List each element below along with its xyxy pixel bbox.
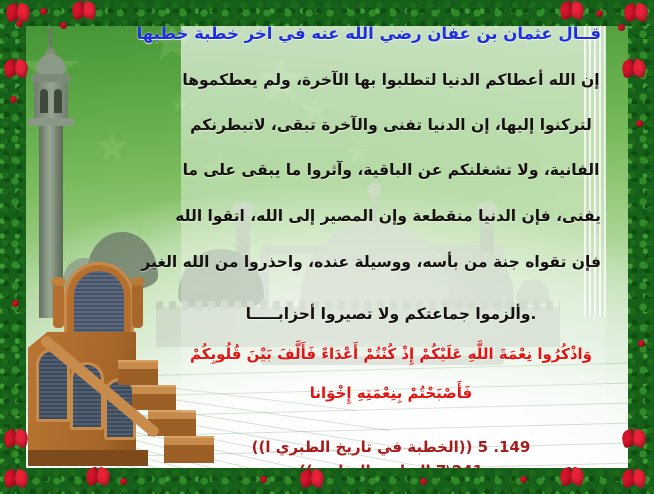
star-shape [95, 130, 129, 164]
citation-ref-1: 5 .149 [478, 438, 531, 456]
body-line-4: يفنى، فإن الدنيا منقطعة وإن المصير إلى ا… [181, 207, 601, 225]
body-line-6: .وألزموا جماعتكم ولا تصيروا أحزابـــــا [181, 305, 601, 323]
citation-text-2: البداية والنهاية. )) [299, 462, 431, 480]
body-line-5: فإن تقواه جنة من بأسه، ووسيلة عنده، واحذ… [181, 253, 601, 271]
text-content: قــال عثمان بن عفان رضي الله عنه في آخر … [181, 18, 601, 418]
body-line-2: لتركنوا إليها، إن الدنيا تفنى والآخرة تب… [181, 116, 601, 134]
citation-line-2: 7\241 البداية والنهاية. )) [181, 462, 601, 480]
quran-verse-line-1: وَاذْكُرُوا نِعْمَةَ اللَّهِ عَلَيْكُمْ … [181, 345, 601, 363]
minbar-icon [22, 262, 202, 462]
body-line-1: إن الله أعطاكم الدنيا لتطلبوا بها الآخرة… [181, 71, 601, 89]
citation-line-1: 5 .149 ((الخطبة في تاريخ الطبري ا)) [181, 438, 601, 456]
body-line-3: الفانية، ولا تشغلنكم عن الباقية، وآثروا … [181, 161, 601, 179]
citation-text-1: ((الخطبة في تاريخ الطبري ا)) [252, 438, 473, 456]
heading-line: قــال عثمان بن عفان رضي الله عنه في آخر … [181, 24, 601, 43]
citation-ref-2: 7\241 [436, 462, 483, 480]
islamic-poster: أبو حبيب السلفي الجزائري قــال عثمان بن … [0, 0, 654, 494]
quran-verse-line-2: فَأَصْبَحْتُمْ بِنِعْمَتِهِ إِخْوَانا [181, 384, 601, 402]
